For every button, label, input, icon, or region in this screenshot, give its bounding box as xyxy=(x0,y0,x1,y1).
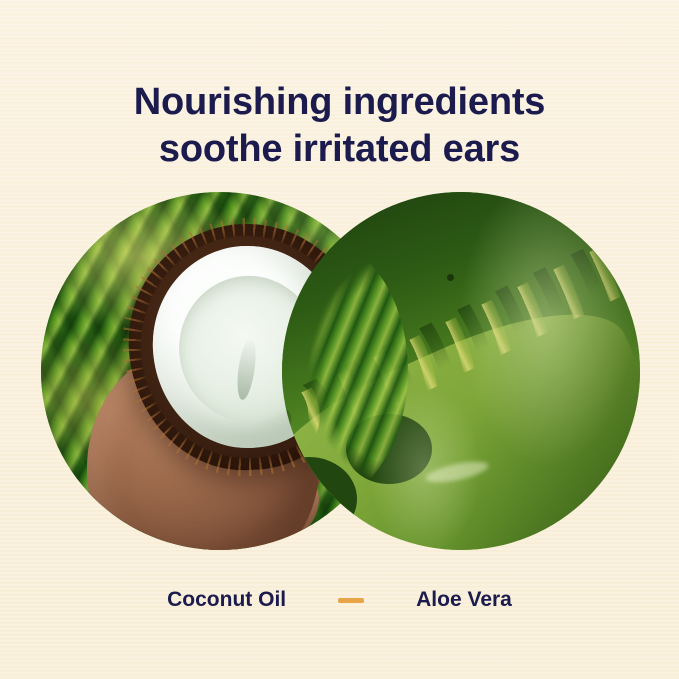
caption-divider-dash xyxy=(338,598,364,603)
aloe-leaf-spot xyxy=(447,274,454,281)
ingredient-captions: Coconut Oil Aloe Vera xyxy=(0,588,679,612)
caption-coconut-oil: Coconut Oil xyxy=(167,588,286,612)
page-title: Nourishing ingredients soothe irritated … xyxy=(0,79,679,173)
caption-aloe-vera: Aloe Vera xyxy=(416,588,512,612)
ingredient-promo-card: Nourishing ingredients soothe irritated … xyxy=(0,0,679,679)
headline-line-2: soothe irritated ears xyxy=(0,126,679,173)
headline-line-1: Nourishing ingredients xyxy=(0,79,679,126)
ingredient-images xyxy=(0,192,679,550)
aloe-photo-circle xyxy=(282,192,640,550)
